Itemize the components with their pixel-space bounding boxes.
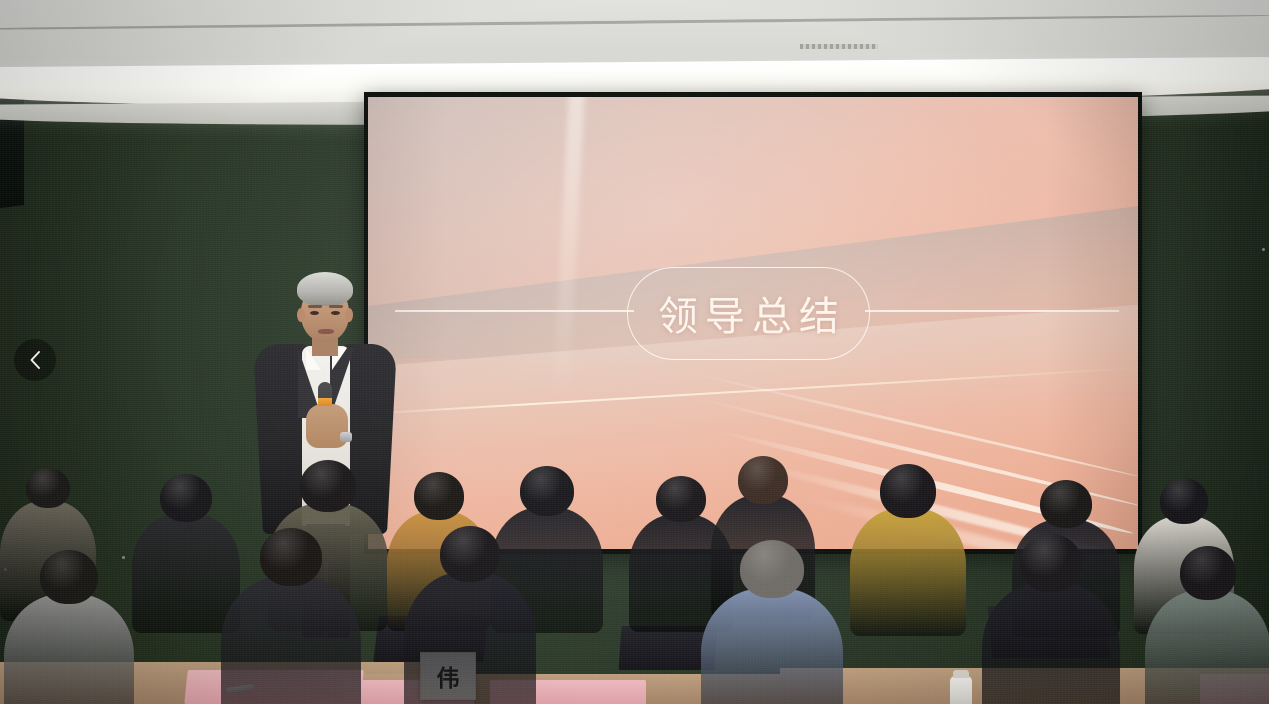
slide-rule-right xyxy=(865,310,1119,311)
speaker-eyebrow xyxy=(308,305,322,308)
water-bottle xyxy=(950,676,972,704)
wall-speck xyxy=(1262,248,1265,251)
attendee-torso xyxy=(404,572,536,704)
attendee-torso xyxy=(701,588,843,704)
chevron-left-icon xyxy=(27,349,43,371)
attendee-head xyxy=(740,540,804,598)
slide-rule-left xyxy=(395,310,634,311)
attendee-head xyxy=(414,472,464,520)
attendee-head xyxy=(26,468,70,508)
speaker-eye xyxy=(331,311,340,315)
ceiling-vent xyxy=(800,44,878,49)
attendee-head xyxy=(440,526,500,582)
attendee-head xyxy=(1180,546,1236,600)
attendee-head xyxy=(656,476,706,522)
audience: 伟 xyxy=(0,430,1269,704)
previous-slide-button[interactable] xyxy=(14,339,56,381)
presentation-photo: 领导总结 xyxy=(0,0,1269,704)
attendee-head xyxy=(300,460,356,512)
slide-title: 领导总结 xyxy=(651,284,846,342)
ceiling-band xyxy=(0,14,1269,32)
wristwatch xyxy=(340,432,352,442)
water-bottle-cap xyxy=(953,670,969,678)
speaker-ear xyxy=(297,308,305,322)
speaker-ear xyxy=(345,308,353,322)
speaker-hair xyxy=(297,272,353,306)
attendee-head xyxy=(520,466,574,516)
attendee-torso xyxy=(4,594,134,704)
attendee-head xyxy=(1020,534,1082,592)
ceiling-band xyxy=(0,0,1269,2)
attendee-torso xyxy=(982,582,1120,704)
attendee-torso xyxy=(132,513,240,633)
attendee-head xyxy=(1040,480,1092,528)
attendee-torso xyxy=(1145,590,1269,704)
attendee-head xyxy=(40,550,98,604)
attendee-torso xyxy=(850,508,966,636)
attendee-head xyxy=(160,474,212,522)
attendee-head xyxy=(260,528,322,586)
speaker-mouth xyxy=(318,329,334,334)
attendee-torso xyxy=(221,576,361,704)
attendee-head xyxy=(1160,478,1208,524)
slide-title-pill: 领导总结 xyxy=(627,267,870,360)
speaker-eyebrow xyxy=(329,305,343,308)
attendee-head xyxy=(880,464,936,518)
attendee-head xyxy=(738,456,788,504)
speaker-eye xyxy=(310,311,319,315)
microphone-band xyxy=(318,398,332,406)
